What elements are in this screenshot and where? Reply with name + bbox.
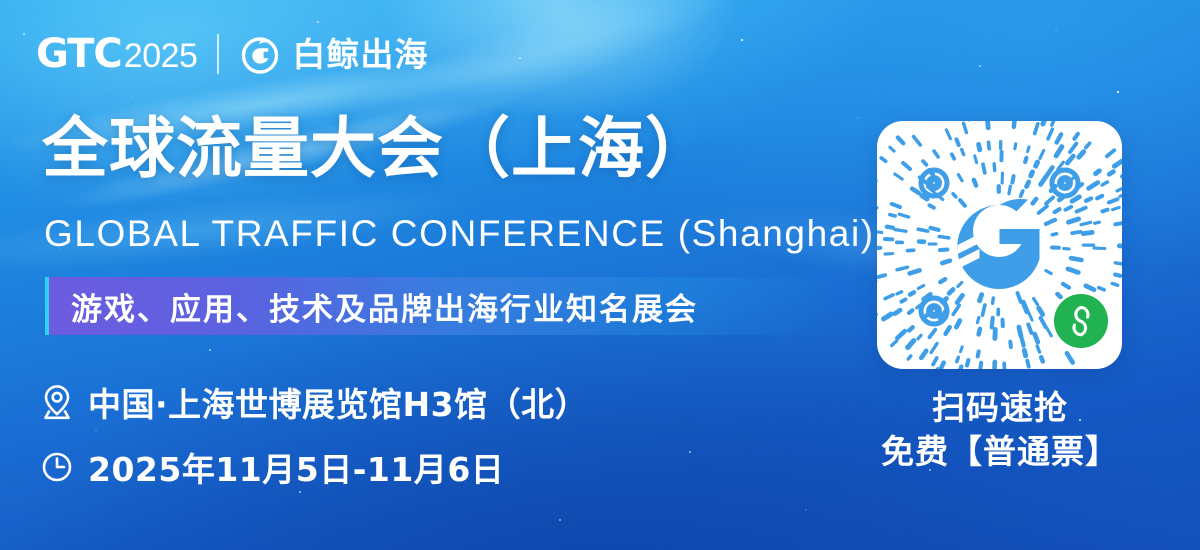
brand-name: 白鲸出海 <box>292 38 428 71</box>
qr-caption: 扫码速抢 免费【普通票】 <box>860 386 1140 474</box>
qr-code-card[interactable] <box>877 121 1122 369</box>
page-title: 全球流量大会（上海） <box>42 112 712 186</box>
venue-info: 中国·上海世博展览馆H3馆（北） <box>40 378 588 426</box>
date-info: 2025年11月5日-11月6日 <box>40 443 504 491</box>
whale-g-circle-icon <box>239 33 281 75</box>
brand-logo: 白鲸出海 <box>239 33 428 75</box>
map-pin-icon <box>40 382 74 422</box>
qr-caption-line2: 免费【普通票】 <box>860 430 1140 474</box>
logo-row: GTC 2025 白鲸出海 <box>36 30 428 78</box>
gtc-logo-main: GTC <box>36 34 122 74</box>
gtc-logo: GTC 2025 <box>36 34 197 74</box>
date-text: 2025年11月5日-11月6日 <box>88 443 504 491</box>
qr-caption-line1: 扫码速抢 <box>860 386 1140 430</box>
qr-code-image[interactable] <box>877 121 1122 369</box>
gtc-logo-year: 2025 <box>124 39 198 73</box>
logo-divider <box>217 34 219 74</box>
page-subtitle-en: GLOBAL TRAFFIC CONFERENCE (Shanghai) <box>44 215 875 252</box>
conference-banner: GTC 2025 白鲸出海 全球流量大会（上海） GLOBAL TRAFFIC … <box>0 0 1200 550</box>
venue-text: 中国·上海世博展览馆H3馆（北） <box>88 378 588 426</box>
tagline-strip: 游戏、应用、技术及品牌出海行业知名展会 <box>45 277 835 335</box>
tagline-text: 游戏、应用、技术及品牌出海行业知名展会 <box>71 284 698 329</box>
clock-icon <box>40 447 74 487</box>
